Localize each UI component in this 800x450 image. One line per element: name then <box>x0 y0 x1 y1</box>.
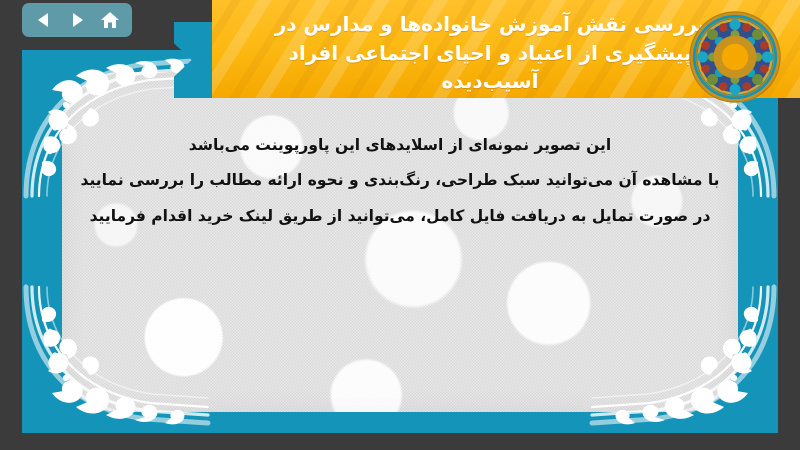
title-line: پیشگیری از اعتیاد و احیای اجتماعی افراد <box>275 39 706 67</box>
triangle-left-icon <box>35 11 53 29</box>
title-line: آسیب‌دیده <box>275 67 706 95</box>
previous-slide-button[interactable] <box>31 8 57 32</box>
triangle-right-icon <box>68 11 86 29</box>
slide-panel <box>22 50 778 433</box>
presentation-slide: این تصویر نمونه‌ای از اسلایدهای این پاور… <box>0 0 800 450</box>
body-line: این تصویر نمونه‌ای از اسلایدهای این پاور… <box>60 128 740 163</box>
home-button[interactable] <box>97 8 123 32</box>
body-line: با مشاهده آن می‌توانید سبک طراحی، رنگ‌بن… <box>60 163 740 198</box>
home-icon <box>100 11 120 30</box>
slide-navigation-bar[interactable] <box>22 3 132 37</box>
body-line: در صورت تمایل به دریافت فایل کامل، می‌تو… <box>60 199 740 234</box>
islamic-medallion-icon <box>686 8 784 106</box>
slide-content-area <box>62 72 738 412</box>
title-line: بررسی نقش آموزش خانواده‌ها و مدارس در <box>275 10 706 38</box>
next-slide-button[interactable] <box>64 8 90 32</box>
slide-body-text: این تصویر نمونه‌ای از اسلایدهای این پاور… <box>60 128 740 234</box>
